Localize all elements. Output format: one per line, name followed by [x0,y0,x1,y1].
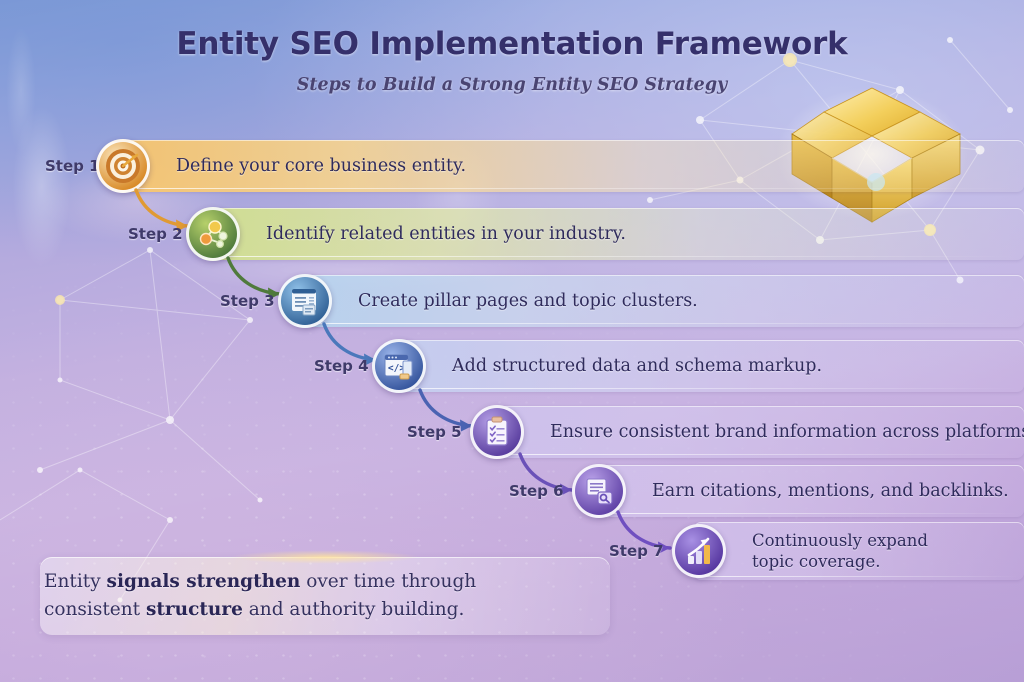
step-icon-7[interactable] [672,524,726,578]
step-row-6[interactable]: Step 6 Earn citations, mentions, and bac… [594,465,1024,517]
step-text-6: Earn citations, mentions, and backlinks. [652,481,1009,501]
summary-line1-post: over time through [300,571,476,592]
step-text-1: Define your core business entity. [176,156,466,176]
summary-line-2: consistent structure and authority build… [44,596,584,624]
step-label-6: Step 6 [509,482,564,500]
step-row-7[interactable]: Step 7 Continuously expand topic coverag… [694,522,1024,582]
network-nodes-icon [193,214,233,254]
step-text-5: Ensure consistent brand information acro… [550,422,1024,442]
step-text-4: Add structured data and schema markup. [452,356,822,376]
step-row-3[interactable]: Step 3 Create pillar pages and topic clu… [300,275,1024,327]
step-label-2: Step 2 [128,225,183,243]
growth-chart-icon [679,531,719,571]
step-icon-4[interactable]: </> [372,339,426,393]
step-label-1: Step 1 [45,157,100,175]
step-icon-1[interactable] [96,139,150,193]
step-text-3: Create pillar pages and topic clusters. [358,291,698,311]
summary-line2-post: and authority building. [243,599,465,620]
step-icon-3[interactable] [278,274,332,328]
step-icon-2[interactable] [186,207,240,261]
code-browser-icon: </> [379,346,419,386]
target-icon [103,146,143,186]
infographic-canvas: Step 1 Define your core business entity.… [0,0,1024,682]
summary-line-1: Entity signals strengthen over time thro… [44,568,584,596]
step-row-4[interactable]: Step 4 </> Add structured data and schem… [394,340,1024,392]
step-row-2[interactable]: Step 2 Identify related entities in your… [208,208,1024,260]
step-row-5[interactable]: Step 5 Ensure consistent brand informati… [492,406,1024,458]
step-label-4: Step 4 [314,357,369,375]
clipboard-checklist-icon [477,412,517,452]
step-icon-5[interactable] [470,405,524,459]
step-row-1[interactable]: Step 1 Define your core business entity. [118,140,1024,192]
step-label-7: Step 7 [609,542,664,560]
pillar-page-document-icon [285,281,325,321]
page-title: Entity SEO Implementation Framework [0,26,1024,62]
step-text-2: Identify related entities in your indust… [266,224,626,244]
document-link-icon [579,471,619,511]
step-text-7: Continuously expand topic coverage. [752,530,952,572]
summary-text: Entity signals strengthen over time thro… [44,568,584,624]
summary-line2-bold: structure [146,599,243,620]
step-label-5: Step 5 [407,423,462,441]
summary-line1-pre: Entity [44,571,107,592]
step-icon-6[interactable] [572,464,626,518]
summary-line2-pre: consistent [44,599,146,620]
page-subtitle: Steps to Build a Strong Entity SEO Strat… [0,75,1024,95]
step-label-3: Step 3 [220,292,275,310]
summary-line1-bold: signals strengthen [107,571,301,592]
